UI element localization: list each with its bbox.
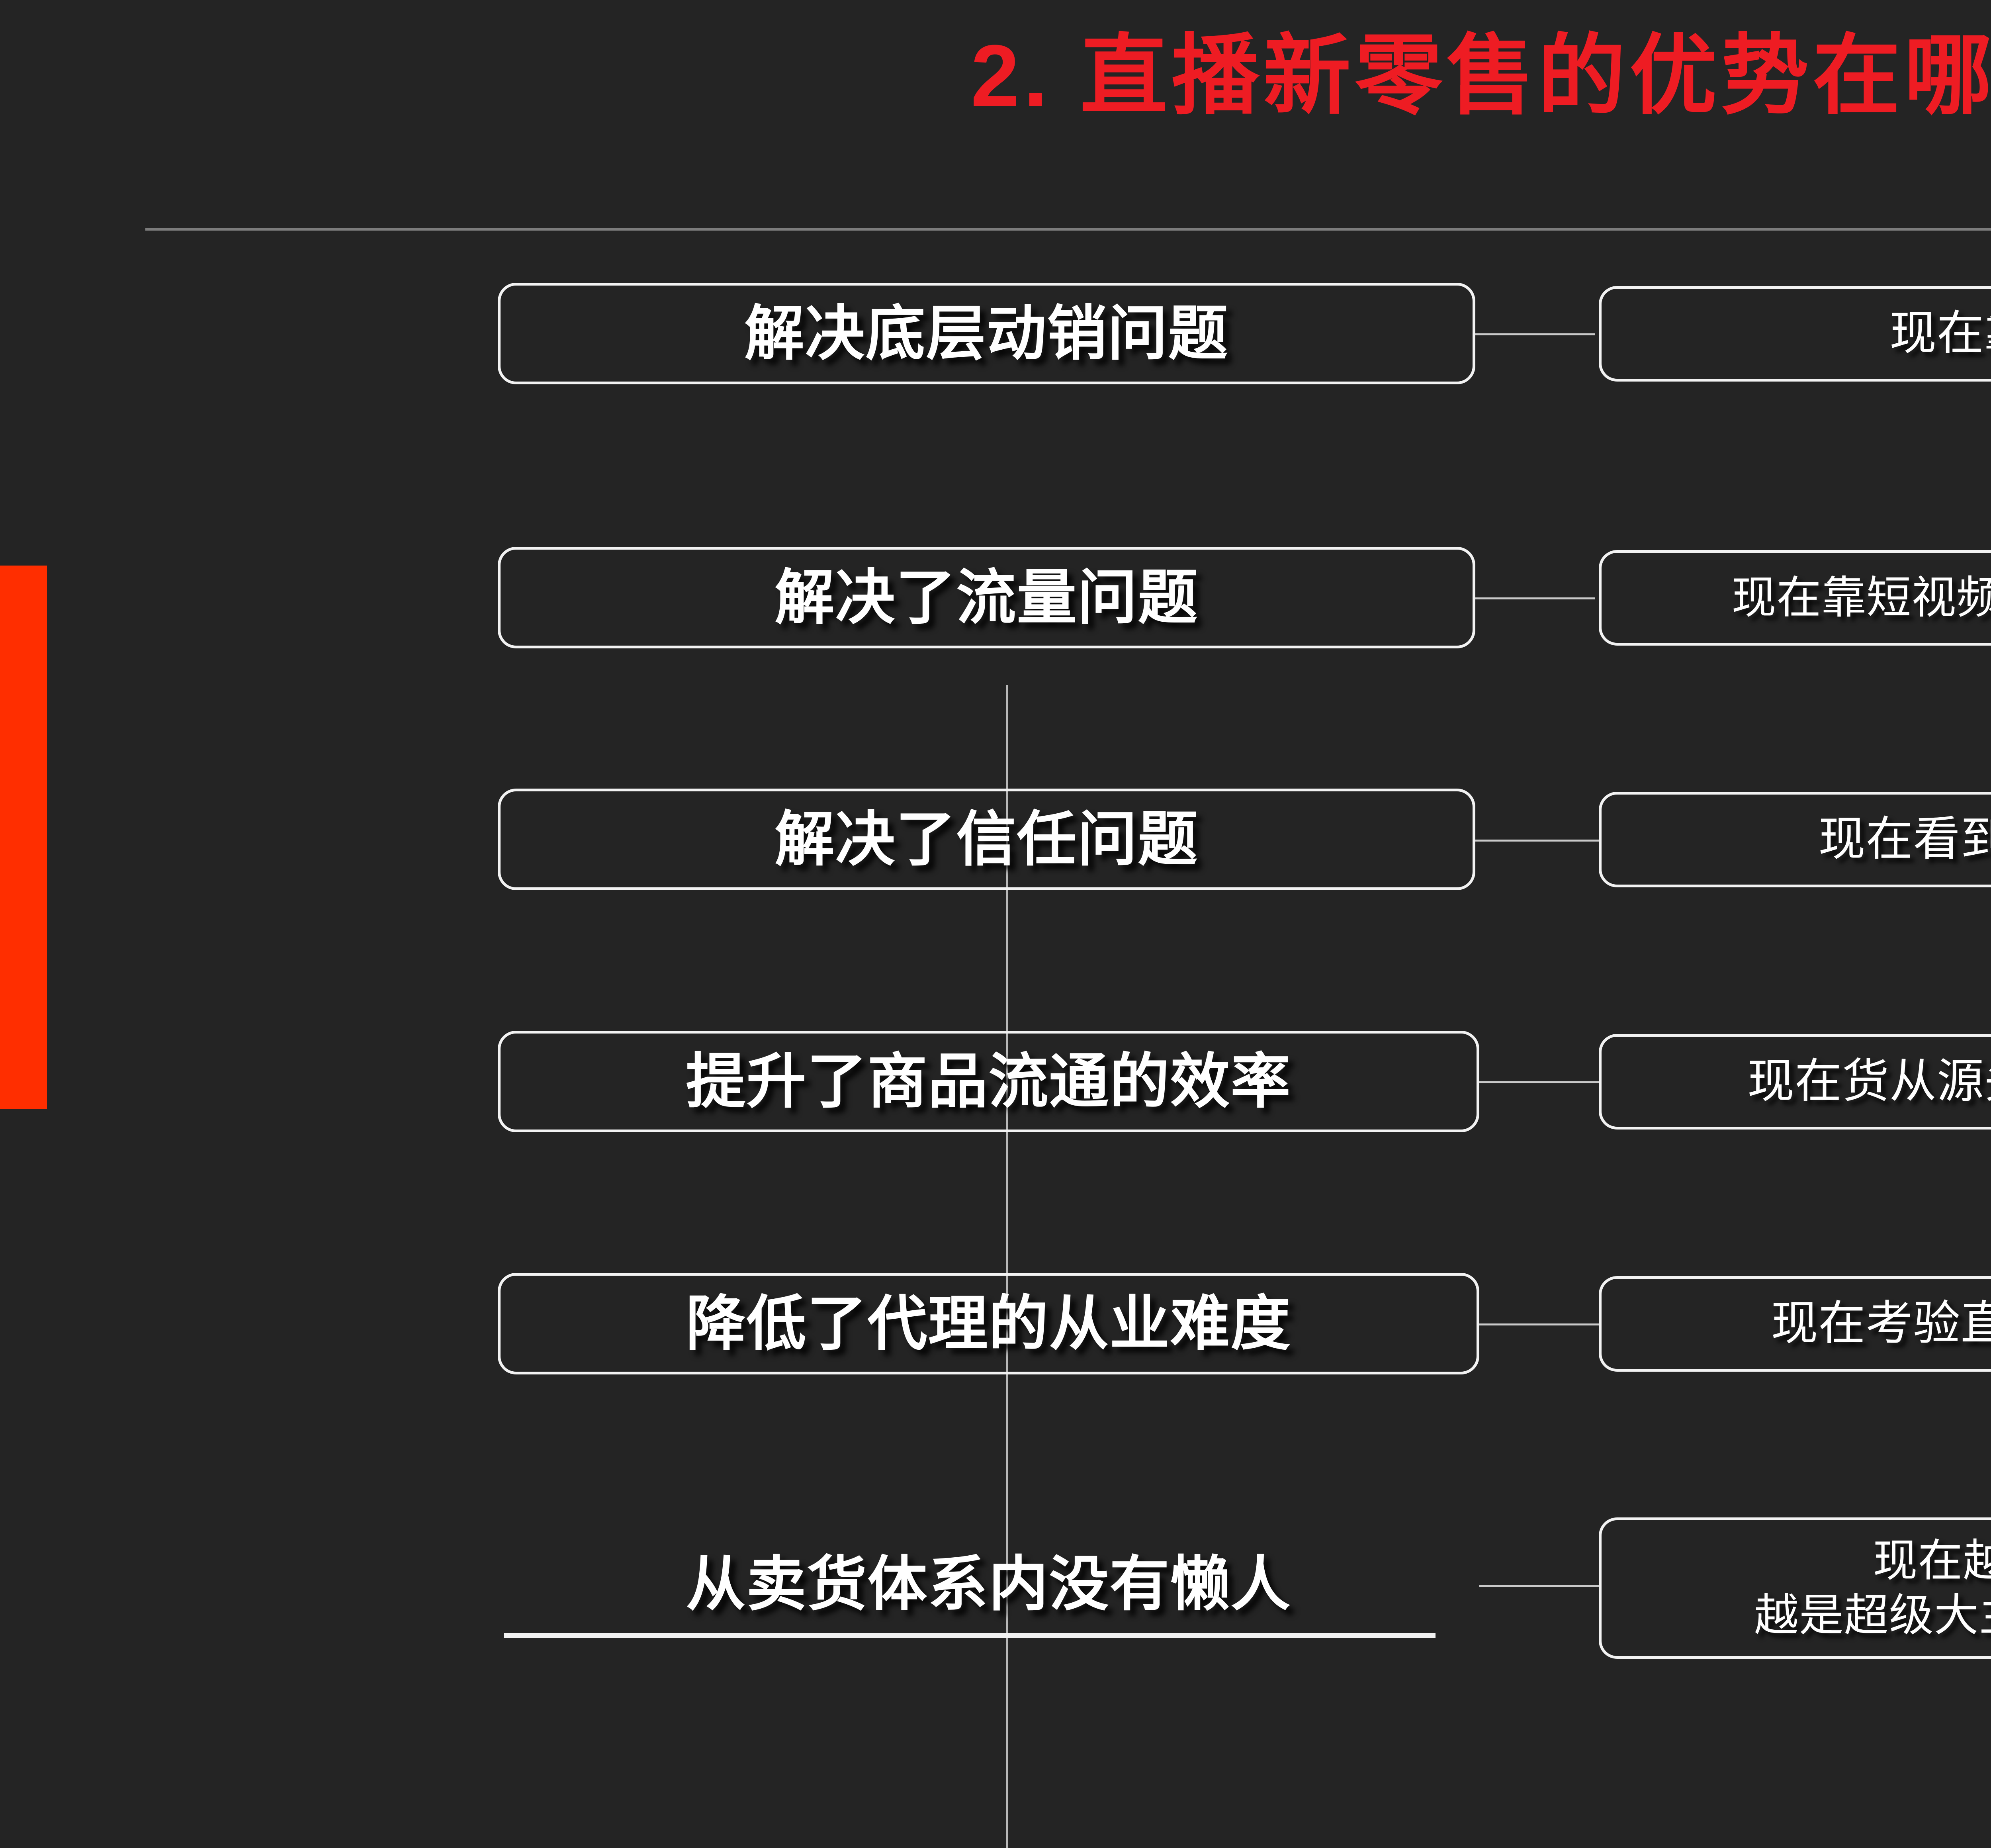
left-box-6-label: 从卖货体系内没有懒人 [686, 1553, 1291, 1616]
connector-line-6 [1479, 1585, 1599, 1587]
left-box-4[interactable]: 提升了商品流通的效率 [498, 1031, 1479, 1132]
connector-line-4 [1479, 1081, 1599, 1083]
title-divider [145, 228, 1991, 231]
connector-line-3 [1475, 840, 1599, 842]
right-box-2[interactable]: 现在靠短视频爆粉/直播爆粉 [1599, 550, 1991, 646]
right-box-6-label-line1: 现在越是老大 [1873, 1534, 1991, 1588]
left-box-6-underline [504, 1633, 1436, 1638]
right-box-6[interactable]: 现在越是老大 越是超级大主播,每天直播 [1599, 1517, 1991, 1659]
left-box-4-label: 提升了商品流通的效率 [686, 1050, 1291, 1113]
connector-line-2 [1475, 597, 1595, 599]
left-box-3[interactable]: 解决了信任问题 [498, 789, 1475, 890]
right-box-6-label-line2: 越是超级大主播,每天直播 [1754, 1588, 1991, 1643]
left-box-1[interactable]: 解决底层动销问题 [498, 283, 1475, 384]
right-box-3[interactable]: 现在看到真实的人 [1599, 792, 1991, 887]
right-box-1-label: 现在靠卖货 [1889, 305, 1991, 362]
page-title: 2. 直播新零售的优势在哪？ [0, 32, 1991, 119]
right-box-4-label: 现在货从源头直达消费者 [1747, 1053, 1991, 1110]
right-box-3-label: 现在看到真实的人 [1818, 811, 1991, 868]
connector-line-5 [1479, 1323, 1599, 1325]
right-box-5[interactable]: 现在考验直播卖货能力 [1599, 1276, 1991, 1372]
left-box-1-label: 解决底层动销问题 [744, 302, 1228, 365]
slide-root: 2. 直播新零售的优势在哪？ 解决底层动销问题 现在靠卖货 解决了流量问题 现在… [0, 0, 1991, 1721]
left-box-3-label: 解决了信任问题 [774, 808, 1198, 871]
right-box-1[interactable]: 现在靠卖货 [1599, 286, 1991, 382]
right-box-4[interactable]: 现在货从源头直达消费者 [1599, 1034, 1991, 1130]
left-box-2[interactable]: 解决了流量问题 [498, 547, 1475, 648]
connector-line-1 [1475, 333, 1595, 335]
flow-diagram: 解决底层动销问题 现在靠卖货 解决了流量问题 现在靠短视频爆粉/直播爆粉 解决了… [0, 263, 1991, 1697]
right-box-5-label: 现在考验直播卖货能力 [1771, 1295, 1991, 1353]
left-box-2-label: 解决了流量问题 [774, 566, 1198, 629]
left-box-5[interactable]: 降低了代理的从业难度 [498, 1273, 1479, 1374]
right-box-2-label: 现在靠短视频爆粉/直播爆粉 [1731, 571, 1991, 625]
left-box-6[interactable]: 从卖货体系内没有懒人 [498, 1533, 1479, 1635]
left-box-5-label: 降低了代理的从业难度 [686, 1292, 1291, 1355]
